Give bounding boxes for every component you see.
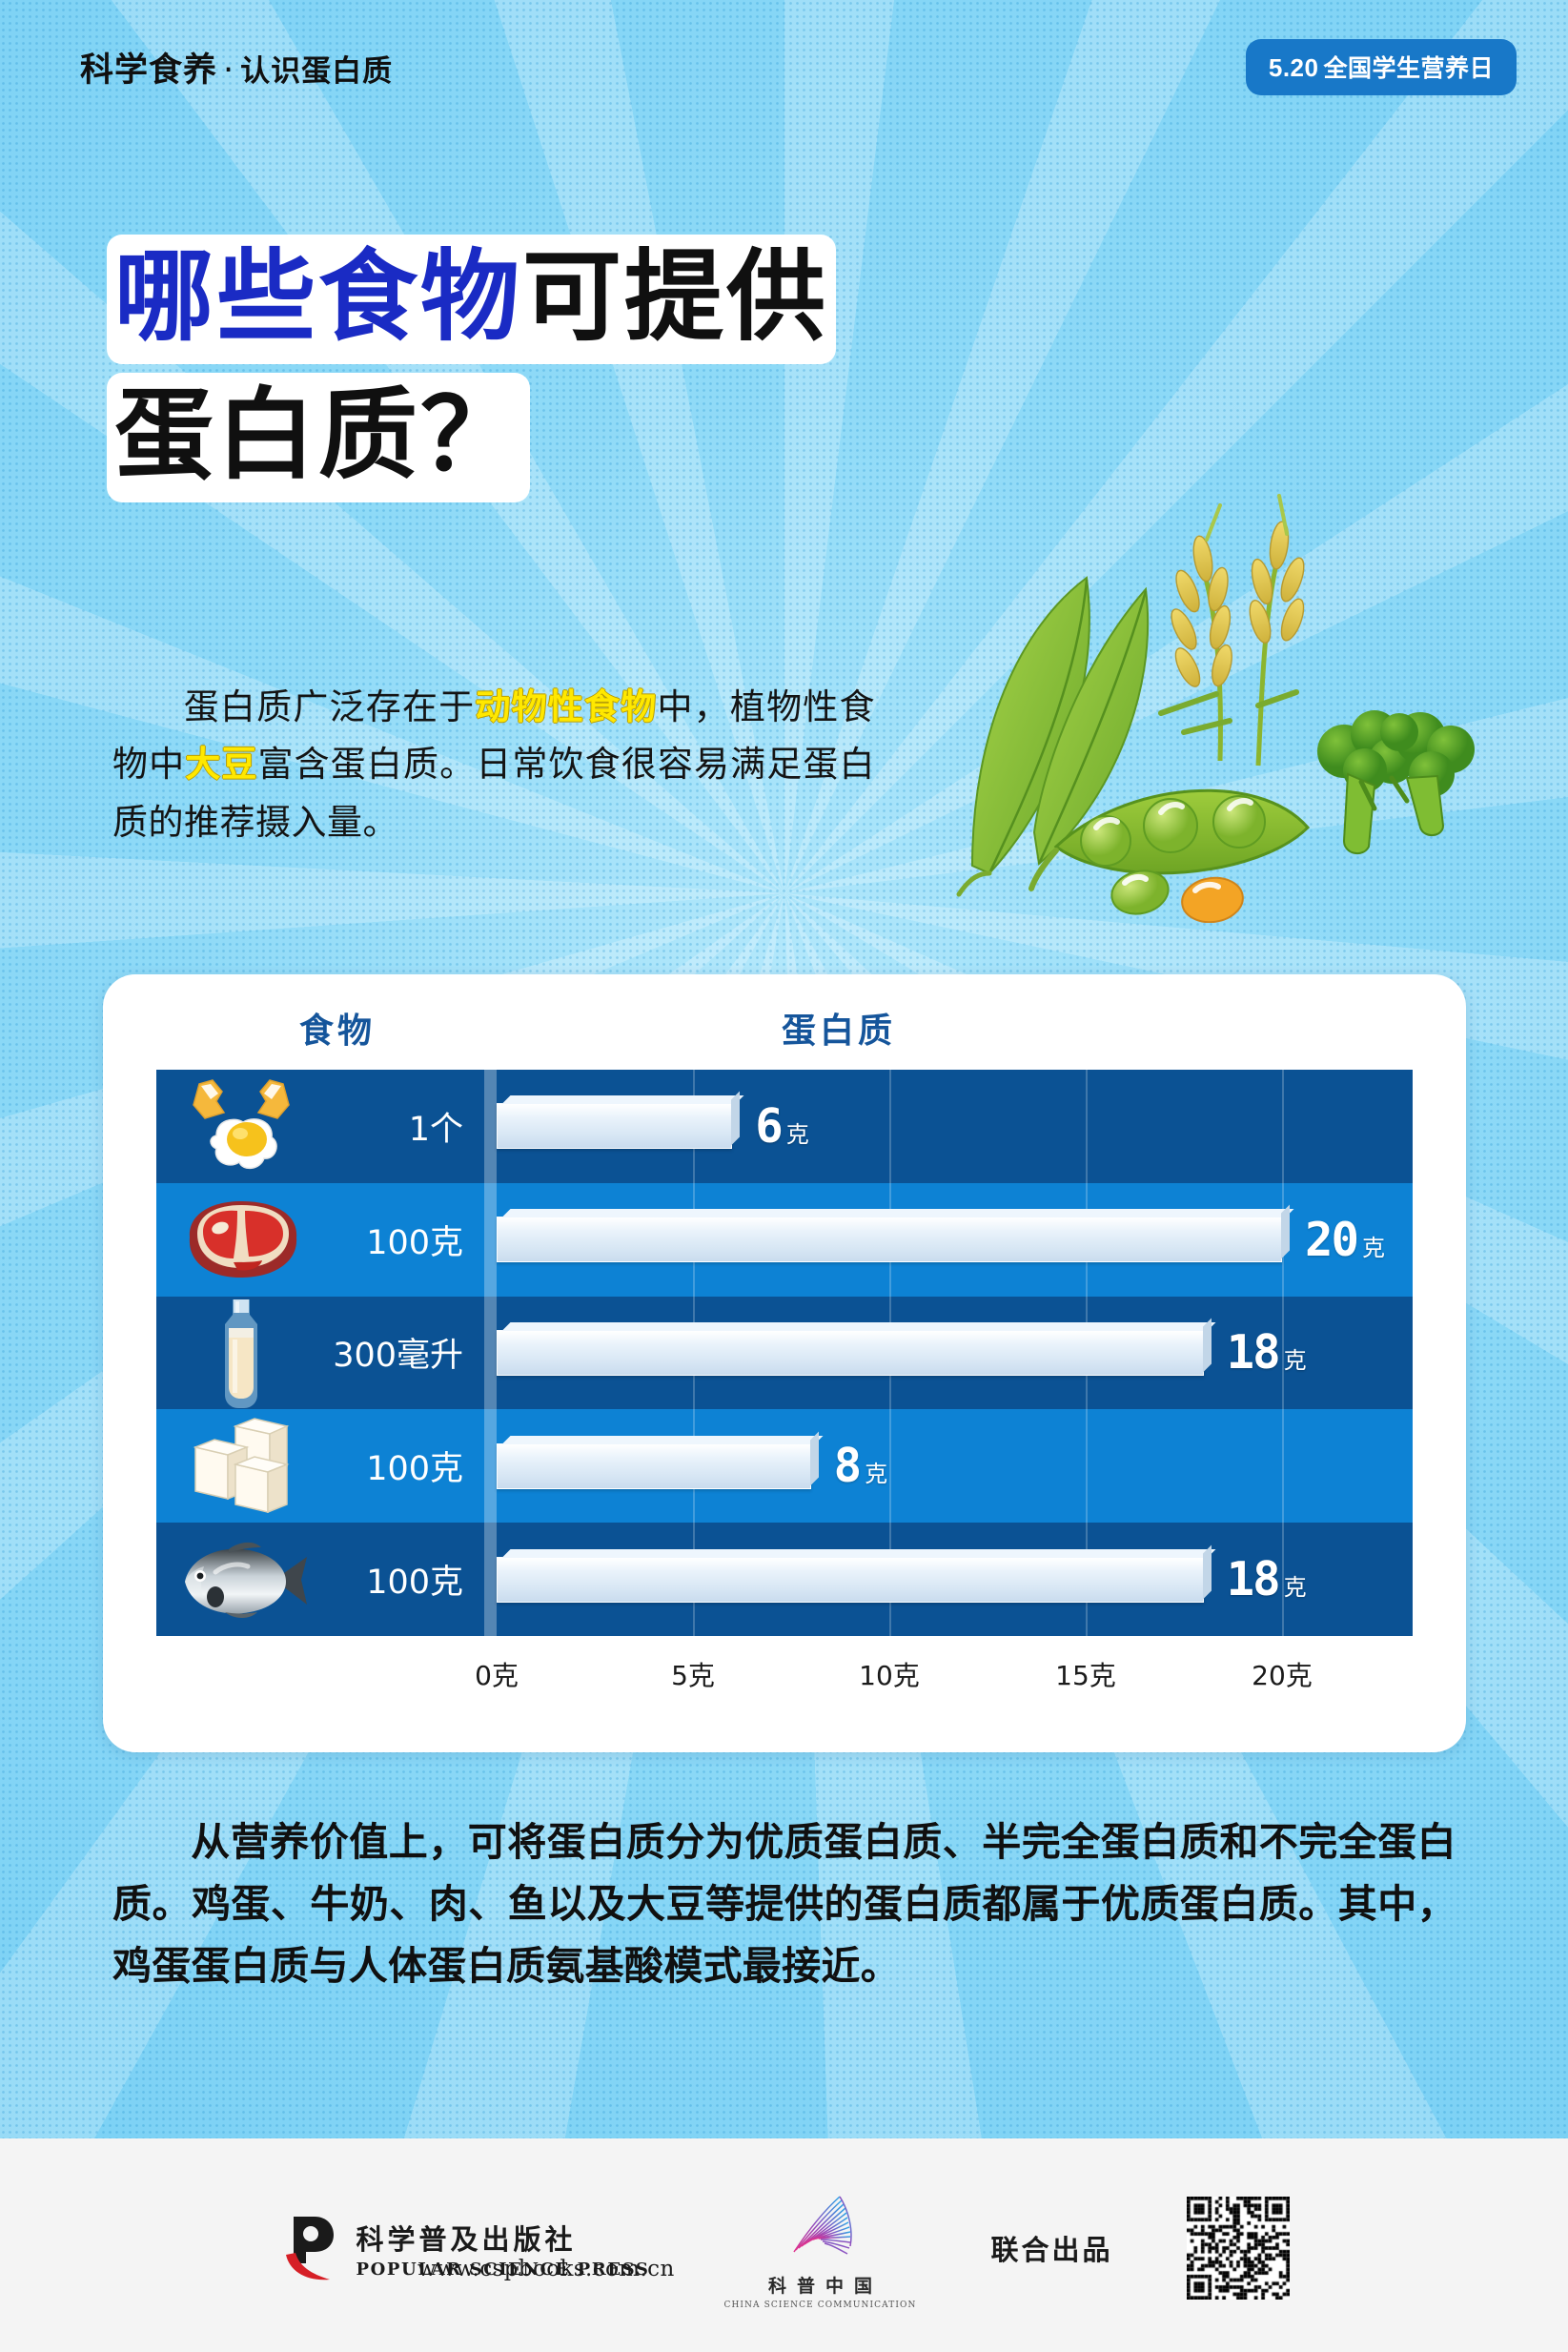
nutrition-day-badge: 5.20全国学生营养日: [1246, 39, 1517, 95]
protein-bar: [497, 1217, 1282, 1262]
meat-icon: [156, 1187, 326, 1292]
poster-canvas: 科学食养·认识蛋白质 5.20全国学生营养日 哪些食物可提供 蛋白质？: [0, 0, 1568, 2352]
tofu-icon: [156, 1414, 326, 1519]
gridline: [484, 1070, 497, 1183]
axis-tick-label: 10克: [859, 1655, 920, 1693]
csc-wing-icon: [762, 2187, 878, 2269]
fish-icon: [156, 1527, 326, 1632]
axis-tick-label: 15克: [1055, 1655, 1116, 1693]
badge-label: 全国学生营养日: [1323, 55, 1494, 82]
intro-paragraph: 蛋白质广泛存在于动物性食物中，植物性食物中大豆富含蛋白质。日常饮食很容易满足蛋白…: [112, 679, 875, 851]
chart-row: 1个6克: [156, 1070, 1413, 1183]
bar-value-unit: 克: [1284, 1341, 1307, 1375]
qr-code[interactable]: [1187, 2197, 1290, 2300]
press-name-cn: 科学普及出版社: [356, 2218, 650, 2258]
gridline: [889, 1409, 891, 1523]
csc-name-cn: 科普中国: [758, 2272, 883, 2298]
chart-plot-area: 1个6克 100克20克 300毫升18克: [156, 1070, 1413, 1636]
bar-with-value: 8克: [497, 1441, 887, 1492]
protein-bar: [497, 1330, 1204, 1376]
footer-bar: 科学普及出版社 POPULAR SCIENCE PRESS: [0, 2138, 1568, 2352]
column-header-food: 食物: [299, 1003, 376, 1053]
leaf-icon: [959, 578, 1148, 894]
closing-paragraph: 从营养价值上，可将蛋白质分为优质蛋白质、半完全蛋白质和不完全蛋白质。鸡蛋、牛奶、…: [112, 1811, 1456, 1996]
chart-row: 100克20克: [156, 1183, 1413, 1297]
protein-bar: [497, 1557, 1204, 1603]
bar-with-value: 6克: [497, 1100, 809, 1152]
title-line-1: 哪些食物可提供: [107, 236, 1060, 358]
gridline: [1282, 1070, 1284, 1183]
gridline: [484, 1297, 497, 1410]
serving-amount-label: 100克: [326, 1442, 484, 1490]
gridline: [484, 1409, 497, 1523]
gridline: [1282, 1409, 1284, 1523]
bar-value-unit: 克: [1362, 1229, 1385, 1262]
intro-part-1: 蛋白质广泛存在于: [183, 686, 475, 727]
wheat-icon: [1161, 496, 1309, 766]
gridline: [1086, 1409, 1088, 1523]
csc-logo-group: 科普中国 CHINA SCIENCE COMMUNICATION: [723, 2187, 916, 2310]
bar-value-number: 8: [834, 1439, 861, 1493]
press-mark-icon: [278, 2213, 341, 2283]
serving-amount-label: 300毫升: [326, 1328, 484, 1377]
title-line1-rest: 可提供: [522, 238, 828, 355]
bar-track: 20克: [484, 1183, 1413, 1297]
title-highlight: 哪些食物: [114, 238, 522, 355]
chart-row: 100克18克: [156, 1523, 1413, 1636]
title-line2-text: 蛋白质？: [114, 377, 522, 493]
serving-amount-label: 100克: [326, 1555, 484, 1604]
gridline: [484, 1183, 497, 1297]
csc-name-en: CHINA SCIENCE COMMUNICATION: [723, 2301, 916, 2310]
chart-row: 300毫升18克: [156, 1297, 1413, 1410]
bar-track: 8克: [484, 1409, 1413, 1523]
bar-value-unit: 克: [865, 1455, 887, 1488]
column-header-protein: 蛋白质: [782, 1003, 896, 1053]
axis-tick-label: 0克: [475, 1655, 519, 1693]
axis-tick-label: 5克: [671, 1655, 715, 1693]
bean-icon: [1108, 865, 1246, 923]
bar-value-number: 18: [1227, 1325, 1279, 1380]
gridline: [889, 1070, 891, 1183]
protein-chart-card: 食物 蛋白质 1个6克 100克20克 300毫升18克: [103, 974, 1466, 1752]
badge-date: 5.20: [1269, 53, 1319, 82]
bar-value-label: 8克: [834, 1439, 888, 1493]
bar-with-value: 18克: [497, 1554, 1307, 1605]
closing-text: 从营养价值上，可将蛋白质分为优质蛋白质、半完全蛋白质和不完全蛋白质。鸡蛋、牛奶、…: [112, 1819, 1456, 1989]
soybean-pod-icon: [1031, 790, 1308, 889]
page-title: 哪些食物可提供 蛋白质？: [107, 236, 1060, 496]
broccoli-icon: [1317, 710, 1475, 853]
chart-column-headers: 食物 蛋白质: [103, 974, 1466, 1070]
bar-value-number: 18: [1227, 1552, 1279, 1606]
serving-amount-label: 100克: [326, 1216, 484, 1264]
axis-tick-label: 20克: [1252, 1655, 1313, 1693]
press-website-url: www.cspbooks.com.cn: [417, 2257, 675, 2281]
china-science-communication-logo: 科普中国 CHINA SCIENCE COMMUNICATION: [723, 2187, 916, 2310]
chart-x-axis: 0克5克10克15克20克: [156, 1642, 1413, 1699]
header-bar: 科学食养·认识蛋白质 5.20全国学生营养日: [0, 36, 1568, 97]
egg-icon: [156, 1074, 326, 1178]
chart-row: 100克8克: [156, 1409, 1413, 1523]
title-line-2: 蛋白质？: [107, 375, 1060, 496]
bar-value-label: 18克: [1227, 1325, 1307, 1380]
brand-sub: 认识蛋白质: [240, 54, 393, 89]
bar-value-unit: 克: [1284, 1568, 1307, 1602]
gridline: [484, 1523, 497, 1636]
milk-icon: [156, 1300, 326, 1405]
bar-value-label: 20克: [1305, 1213, 1385, 1267]
bar-value-label: 6克: [755, 1099, 809, 1154]
protein-bar: [497, 1443, 811, 1489]
bar-value-label: 18克: [1227, 1552, 1307, 1606]
bar-value-unit: 克: [786, 1115, 809, 1149]
gridline: [1086, 1070, 1088, 1183]
serving-amount-label: 1个: [326, 1102, 484, 1151]
brand-separator: ·: [223, 51, 234, 90]
bar-with-value: 18克: [497, 1327, 1307, 1379]
bar-value-number: 20: [1305, 1213, 1357, 1267]
bar-value-number: 6: [755, 1099, 782, 1154]
intro-highlight-animal-food: 动物性食物: [475, 686, 657, 727]
intro-highlight-soybean: 大豆: [185, 744, 257, 785]
plant-food-illustration: [944, 446, 1497, 923]
coproduce-label: 联合出品: [990, 2228, 1112, 2268]
bar-track: 18克: [484, 1297, 1413, 1410]
qr-group: [1187, 2197, 1290, 2300]
protein-bar: [497, 1103, 732, 1149]
brand-title: 科学食养·认识蛋白质: [80, 43, 393, 92]
brand-main: 科学食养: [80, 51, 217, 90]
bar-track: 18克: [484, 1523, 1413, 1636]
bar-with-value: 20克: [497, 1214, 1385, 1265]
bar-track: 6克: [484, 1070, 1413, 1183]
coproduce-group: 联合出品: [990, 2228, 1112, 2268]
